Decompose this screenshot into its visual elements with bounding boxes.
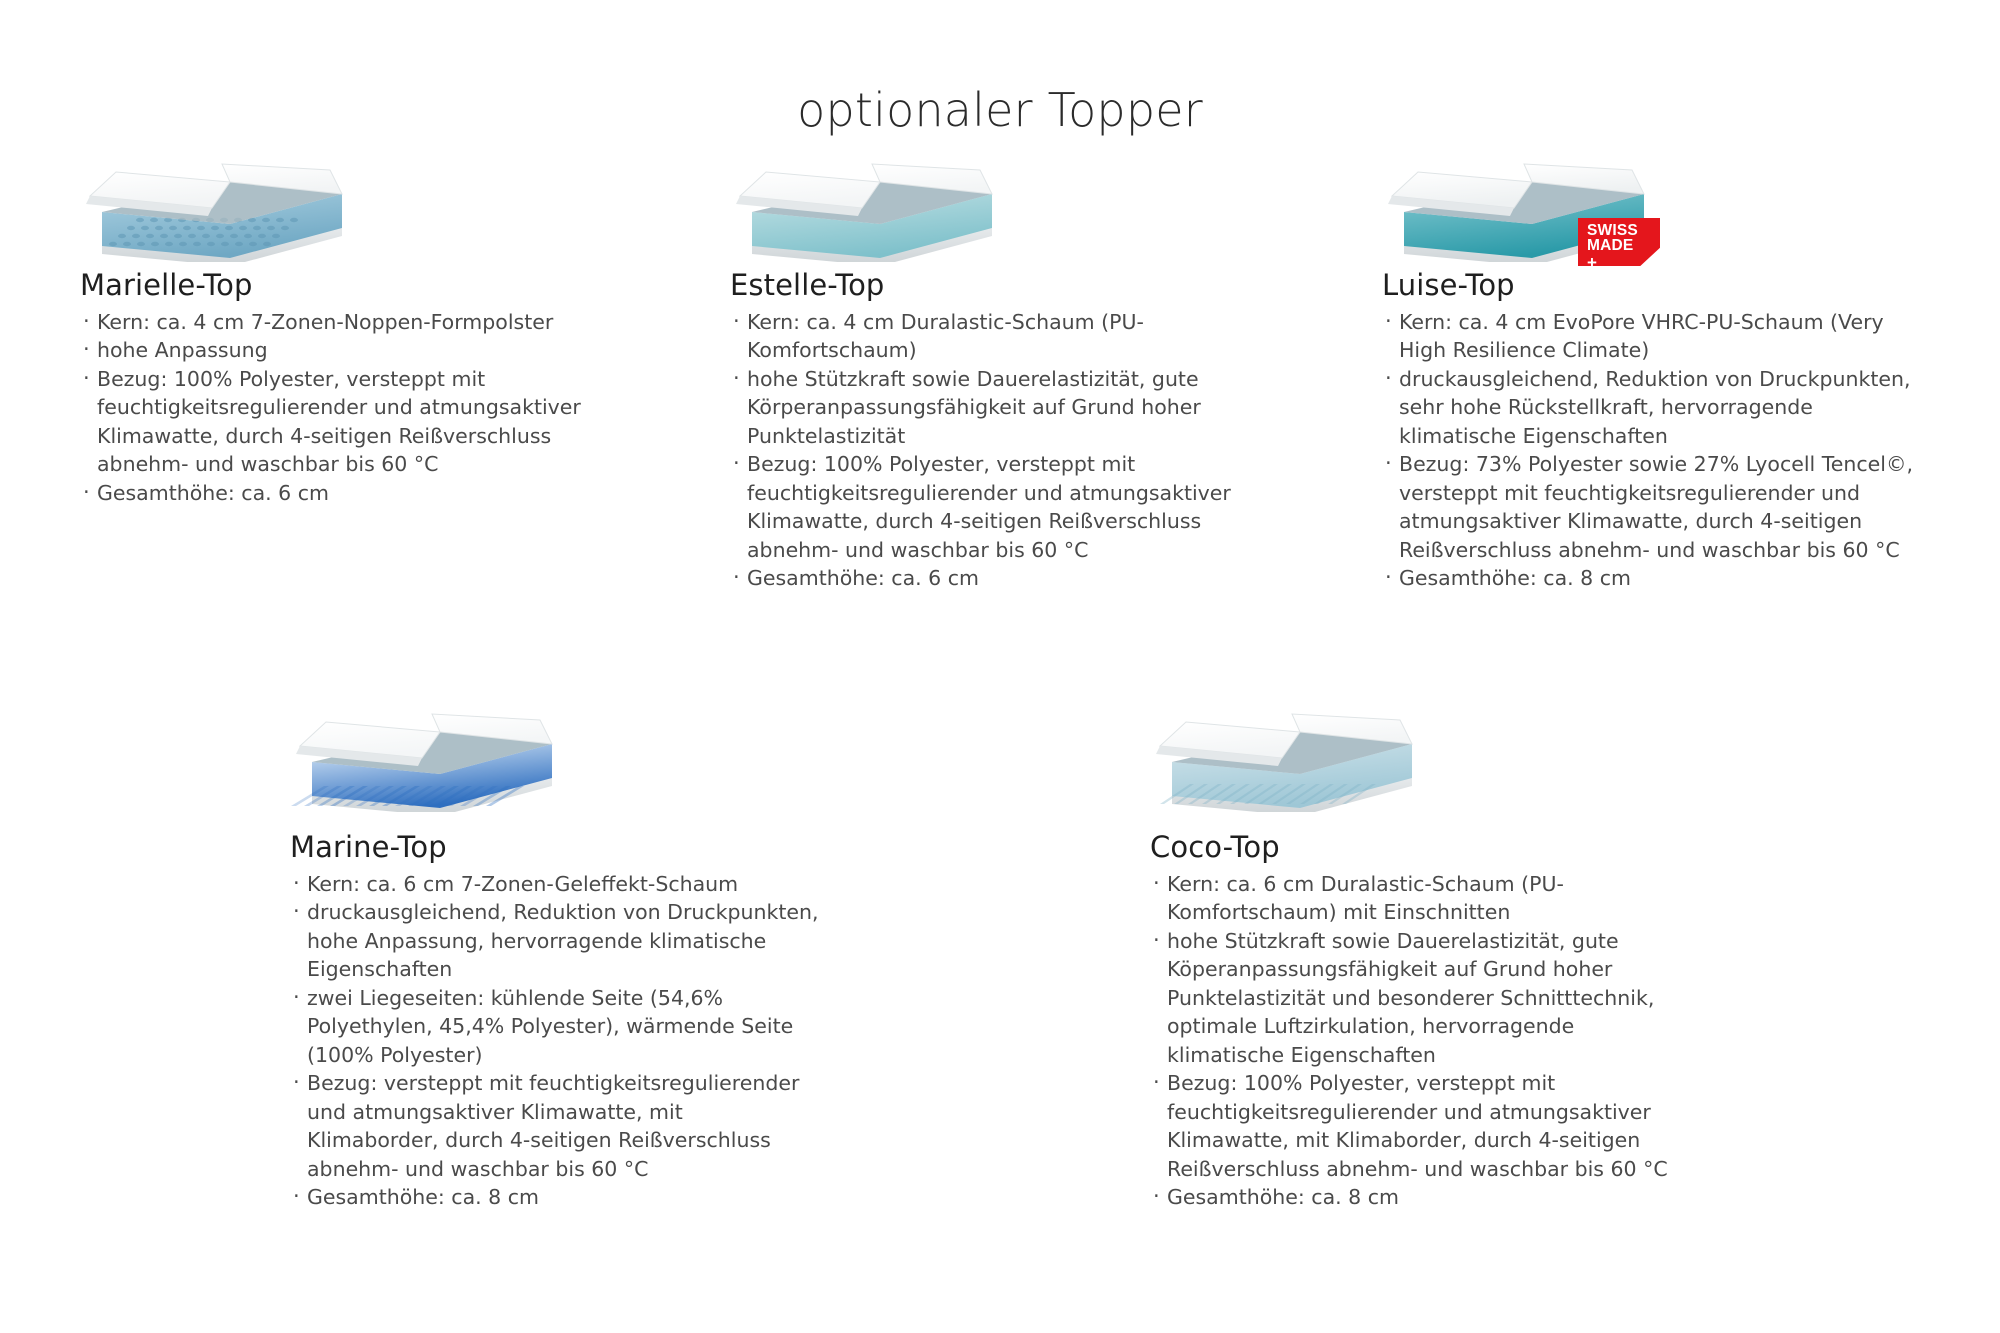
product-title-marine: Marine-Top: [290, 830, 820, 864]
feature-item: hohe Stützkraft sowie Dauerelastizität, …: [730, 365, 1250, 450]
product-title-luise: Luise-Top: [1382, 268, 1927, 302]
product-feature-list: Kern: ca. 4 cm Duralastic-Schaum (PU-Kom…: [730, 308, 1250, 593]
feature-item: hohe Anpassung: [80, 336, 600, 364]
feature-item: Kern: ca. 6 cm 7-Zonen-Geleffekt-Schaum: [290, 870, 820, 898]
product-feature-list: Kern: ca. 6 cm 7-Zonen-Geleffekt-Schaumd…: [290, 870, 820, 1212]
feature-item: Gesamthöhe: ca. 8 cm: [1150, 1183, 1695, 1211]
product-feature-list: Kern: ca. 6 cm Duralastic-Schaum (PU-Kom…: [1150, 870, 1695, 1212]
page-title: optionaler Topper: [0, 83, 2000, 137]
badge-line-2: MADE: [1587, 239, 1660, 254]
product-title-marielle: Marielle-Top: [80, 268, 600, 302]
product-card-marielle: Marielle-TopKern: ca. 4 cm 7-Zonen-Noppe…: [80, 150, 600, 507]
swiss-made-badge: SWISSMADE+: [1578, 218, 1660, 266]
mattress-illustration: [1150, 700, 1420, 812]
topper-marine-image: [290, 700, 820, 830]
feature-item: Gesamthöhe: ca. 8 cm: [290, 1183, 820, 1211]
mattress-illustration: [730, 150, 1000, 262]
feature-item: Bezug: 100% Polyester, versteppt mit feu…: [80, 365, 600, 479]
feature-item: hohe Stützkraft sowie Dauerelastizität, …: [1150, 927, 1695, 1069]
product-feature-list: Kern: ca. 4 cm 7-Zonen-Noppen-Formpolste…: [80, 308, 600, 507]
mattress-illustration: [80, 150, 350, 262]
product-card-luise: SWISSMADE+Luise-TopKern: ca. 4 cm EvoPor…: [1382, 150, 1927, 593]
product-card-estelle: Estelle-TopKern: ca. 4 cm Duralastic-Sch…: [730, 150, 1250, 593]
feature-item: zwei Liegeseiten: kühlende Seite (54,6% …: [290, 984, 820, 1069]
feature-item: Gesamthöhe: ca. 6 cm: [80, 479, 600, 507]
feature-item: Kern: ca. 6 cm Duralastic-Schaum (PU-Kom…: [1150, 870, 1695, 927]
mattress-illustration: [290, 700, 560, 812]
feature-item: Bezug: versteppt mit feuchtigkeitsreguli…: [290, 1069, 820, 1183]
topper-estelle-image: [730, 150, 1250, 268]
feature-item: druckausgleichend, Reduktion von Druckpu…: [290, 898, 820, 983]
feature-item: Bezug: 100% Polyester, versteppt mit feu…: [730, 450, 1250, 564]
product-title-estelle: Estelle-Top: [730, 268, 1250, 302]
feature-item: Bezug: 100% Polyester, versteppt mit feu…: [1150, 1069, 1695, 1183]
feature-item: Bezug: 73% Polyester sowie 27% Lyocell T…: [1382, 450, 1927, 564]
topper-marielle-image: [80, 150, 600, 268]
topper-coco-image: [1150, 700, 1695, 830]
product-card-coco: Coco-TopKern: ca. 6 cm Duralastic-Schaum…: [1150, 700, 1695, 1212]
feature-item: Kern: ca. 4 cm Duralastic-Schaum (PU-Kom…: [730, 308, 1250, 365]
feature-item: Gesamthöhe: ca. 6 cm: [730, 564, 1250, 592]
product-card-marine: Marine-TopKern: ca. 6 cm 7-Zonen-Geleffe…: [290, 700, 820, 1212]
feature-item: Kern: ca. 4 cm 7-Zonen-Noppen-Formpolste…: [80, 308, 600, 336]
feature-item: Gesamthöhe: ca. 8 cm: [1382, 564, 1927, 592]
topper-luise-image: SWISSMADE+: [1382, 150, 1927, 268]
feature-item: druckausgleichend, Reduktion von Druckpu…: [1382, 365, 1927, 450]
product-title-coco: Coco-Top: [1150, 830, 1695, 864]
feature-item: Kern: ca. 4 cm EvoPore VHRC-PU-Schaum (V…: [1382, 308, 1927, 365]
product-feature-list: Kern: ca. 4 cm EvoPore VHRC-PU-Schaum (V…: [1382, 308, 1927, 593]
